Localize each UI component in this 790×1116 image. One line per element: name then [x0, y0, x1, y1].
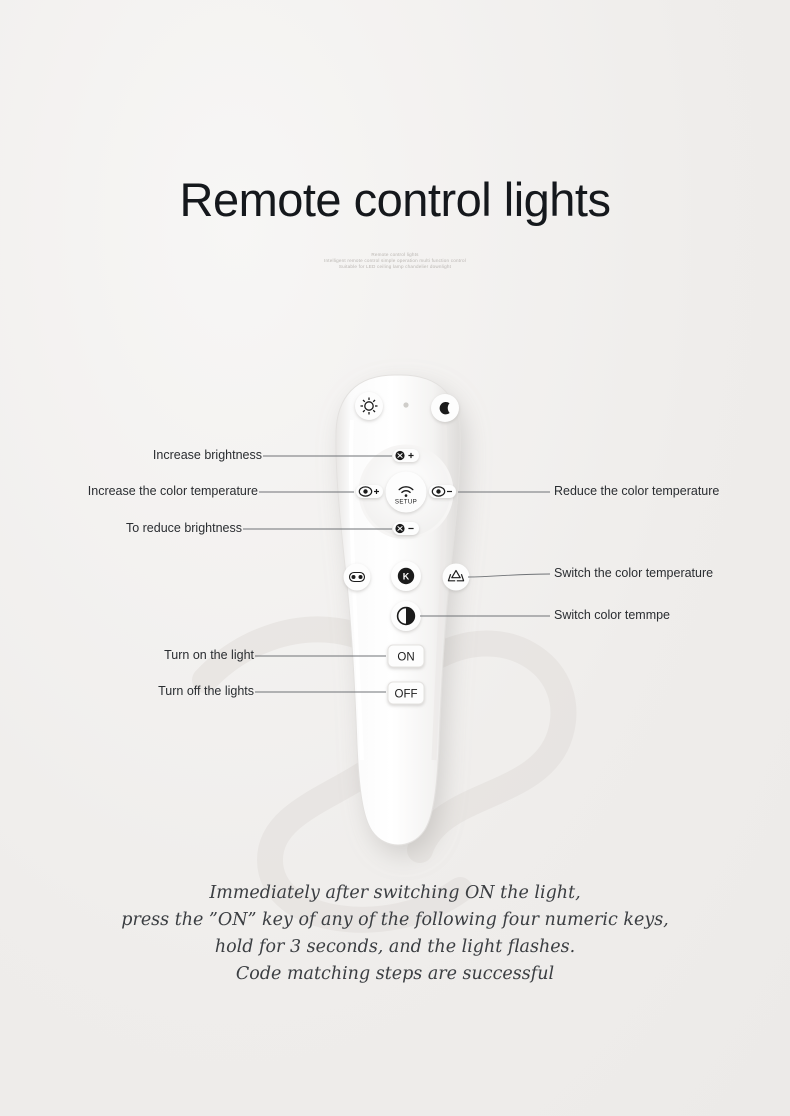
ir-emitter-dot	[403, 402, 408, 407]
sun-icon	[361, 398, 378, 415]
kelvin-button[interactable]: K	[391, 561, 421, 591]
remote-lower-keys: K ON	[344, 561, 470, 704]
callout-increase-color-temperature: Increase the color temperature	[0, 484, 258, 498]
off-button[interactable]: OFF	[388, 682, 424, 704]
on-label: ON	[397, 652, 414, 664]
group-icon	[350, 573, 365, 582]
callout-reduce-color-temperature: Reduce the color temperature	[554, 484, 719, 498]
moon-button[interactable]	[431, 394, 459, 422]
contrast-icon	[398, 608, 415, 625]
brightness-up-button[interactable]	[393, 449, 419, 462]
contrast-button[interactable]	[391, 601, 421, 631]
on-button[interactable]: ON	[388, 645, 424, 667]
callout-turn-on-the-light: Turn on the light	[0, 648, 254, 662]
callout-reduce-brightness: To reduce brightness	[0, 521, 242, 535]
remote-dpad: SETUP	[356, 446, 456, 538]
color-temp-left-button[interactable]	[356, 485, 383, 498]
subtitle-microtext: Remote control lights Intelligent remote…	[0, 252, 790, 271]
wifi-icon	[399, 487, 413, 497]
moon-icon	[440, 402, 450, 414]
off-label: OFF	[395, 689, 418, 701]
page-title: Remote control lights	[0, 172, 790, 227]
page-root: Remote control lights Remote control lig…	[0, 0, 790, 1116]
remote-top-row	[355, 392, 459, 422]
kelvin-icon	[398, 568, 414, 584]
recycle-icon	[448, 571, 463, 581]
sun-button[interactable]	[355, 392, 383, 420]
brightness-up-icon	[395, 451, 413, 460]
brightness-down-icon	[395, 524, 413, 533]
callout-increase-brightness: Increase brightness	[0, 448, 262, 462]
footer-note: Immediately after switching ON the light…	[0, 880, 790, 988]
callout-lines	[243, 456, 550, 692]
color-temp-left-icon	[359, 487, 379, 496]
setup-label: SETUP	[395, 499, 417, 506]
callout-turn-off-the-lights: Turn off the lights	[0, 684, 254, 698]
callout-switch-color-temperature-mode: Switch color temmpe	[554, 608, 670, 622]
color-temp-right-button[interactable]	[429, 485, 456, 498]
callout-switch-the-color-temperature: Switch the color temperature	[554, 566, 713, 580]
remote-body	[336, 375, 460, 845]
color-temp-right-icon	[432, 487, 452, 496]
kelvin-label: K	[403, 572, 410, 582]
recycle-button[interactable]	[443, 564, 470, 591]
group-button[interactable]	[344, 564, 371, 591]
setup-button[interactable]	[386, 472, 427, 513]
brightness-down-button[interactable]	[393, 522, 419, 535]
